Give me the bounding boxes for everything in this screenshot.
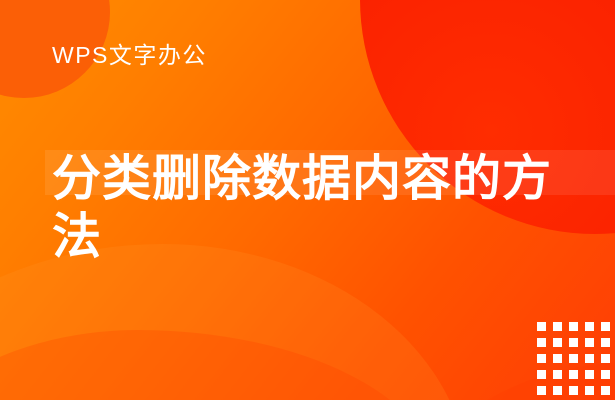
wps-tutorial-banner: WPS文字办公 分类删除数据内容的方法 (0, 0, 615, 400)
dot-square (567, 320, 583, 336)
dot-square (567, 384, 583, 400)
dot-square (535, 320, 551, 336)
dot-square (535, 352, 551, 368)
dot-square (551, 352, 567, 368)
dot-square (551, 368, 567, 384)
dot-square (551, 384, 567, 400)
dot-square (599, 320, 615, 336)
dot-square (599, 352, 615, 368)
dot-square (599, 336, 615, 352)
dot-square (583, 384, 599, 400)
dot-square (583, 352, 599, 368)
dot-square (535, 384, 551, 400)
dot-square (567, 336, 583, 352)
dot-square (583, 336, 599, 352)
banner-subtitle: WPS文字办公 (52, 38, 592, 72)
bottom-left-wave-decoration (0, 244, 470, 400)
dot-grid-decoration (535, 320, 615, 400)
banner-text-block: WPS文字办公 分类删除数据内容的方法 (52, 38, 592, 72)
dot-square (583, 320, 599, 336)
dot-square (567, 368, 583, 384)
dot-square (535, 368, 551, 384)
dot-square (583, 368, 599, 384)
bottom-left-wave-accent-decoration (0, 330, 440, 400)
banner-title: 分类删除数据内容的方法 (52, 150, 582, 266)
dot-square (551, 320, 567, 336)
dot-square (599, 384, 615, 400)
dot-square (567, 352, 583, 368)
dot-square (535, 336, 551, 352)
dot-square (599, 368, 615, 384)
dot-square (551, 336, 567, 352)
